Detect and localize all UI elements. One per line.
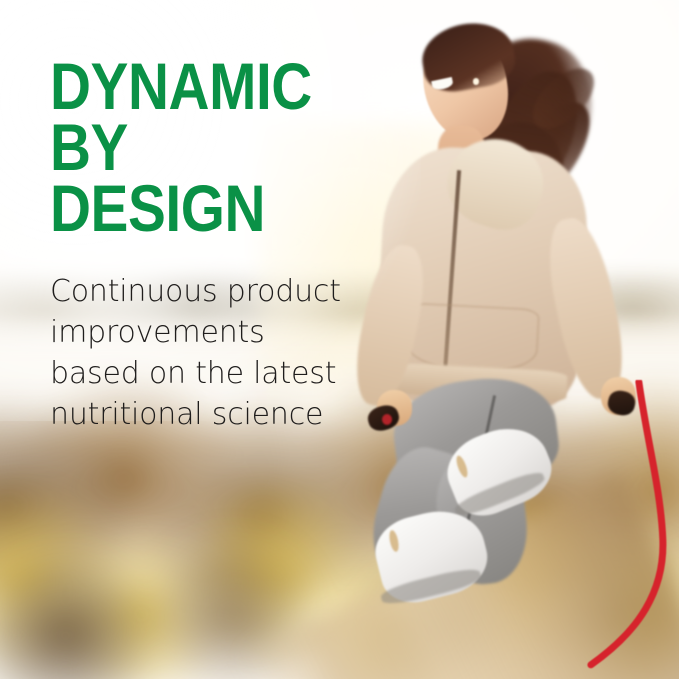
earring	[473, 78, 480, 85]
hoodie-pocket	[406, 302, 540, 372]
page-title: DYNAMIC BY DESIGN	[50, 56, 334, 239]
copy-block: DYNAMIC BY DESIGN Continuous product imp…	[50, 56, 380, 435]
subheading: Continuous product improvements based on…	[50, 271, 380, 435]
jump-rope-cord	[543, 380, 679, 679]
promo-poster: DYNAMIC BY DESIGN Continuous product imp…	[0, 0, 679, 679]
handle-accent	[382, 414, 392, 425]
